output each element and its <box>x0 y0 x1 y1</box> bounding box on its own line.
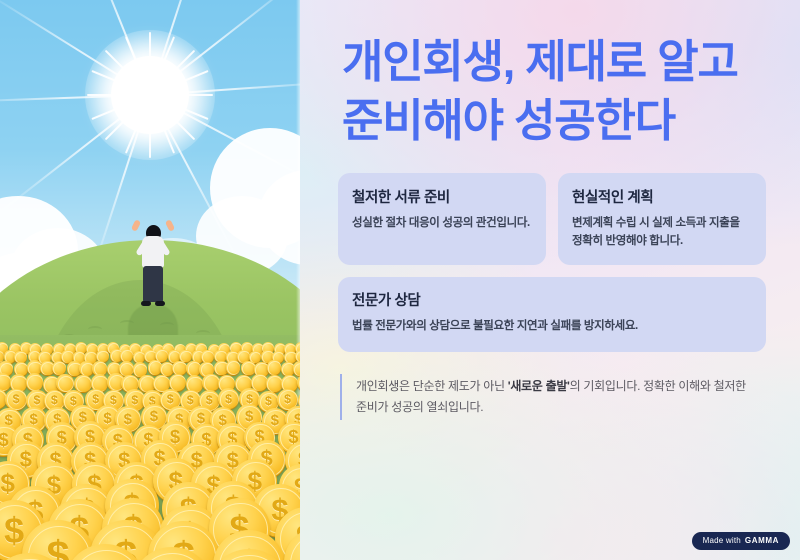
gold-coin <box>26 373 43 390</box>
card-document-prep[interactable]: 철저한 서류 준비 성실한 절차 대응이 성공의 관건입니다. <box>338 173 546 265</box>
person-torso <box>142 236 164 268</box>
slide-root: $$$$$$$$$$$$$$$$$$$$$$$$$$$$$$$$$$$$$$$$… <box>0 0 800 560</box>
card-expert-consult[interactable]: 전문가 상담 법률 전문가와의 상담으로 불필요한 지연과 실패를 방지하세요. <box>338 277 766 352</box>
card-title: 현실적인 계획 <box>572 186 752 207</box>
hero-illustration: $$$$$$$$$$$$$$$$$$$$$$$$$$$$$$$$$$$$$$$$… <box>0 0 300 560</box>
person-shoe-left <box>141 301 151 306</box>
gold-coin: $ <box>5 389 26 410</box>
gold-coin <box>52 361 67 376</box>
card-body: 변제계획 수립 시 실제 소득과 지출을 정확히 반영해야 합니다. <box>572 214 752 251</box>
quote-lead: 개인회생은 단순한 제도가 아닌 <box>356 379 508 393</box>
grass-tuft <box>88 326 102 333</box>
card-body: 법률 전문가와의 상담으로 불필요한 지연과 실패를 방지하세요. <box>352 317 752 336</box>
card-title: 전문가 상담 <box>352 289 752 310</box>
made-with-gamma-badge[interactable]: Made with GAMMA <box>692 532 790 550</box>
gold-coin <box>267 360 282 375</box>
content-panel: 개인회생, 제대로 알고 준비해야 성공한다 철저한 서류 준비 성실한 절차 … <box>300 0 800 560</box>
gold-coin: $ <box>218 388 239 409</box>
gold-coin <box>226 360 241 375</box>
gold-coin <box>172 361 187 376</box>
badge-prefix: Made with <box>703 536 741 545</box>
page-title: 개인회생, 제대로 알고 준비해야 성공한다 <box>342 32 757 151</box>
quote-emphasis: '새로운 출발' <box>508 379 570 393</box>
card-realistic-plan[interactable]: 현실적인 계획 변제계획 수립 시 실제 소득과 지출을 정확히 반영해야 합니… <box>558 173 766 265</box>
celebrating-person <box>133 215 173 307</box>
gold-coin <box>201 350 214 363</box>
badge-brand: GAMMA <box>745 536 779 545</box>
gold-coin <box>120 349 133 362</box>
sun-icon <box>111 56 189 134</box>
person-hand-left <box>131 219 141 232</box>
person-shoe-right <box>155 301 165 306</box>
gold-coin <box>74 375 91 392</box>
card-title: 철저한 서류 준비 <box>352 186 532 207</box>
gold-coin <box>202 374 219 391</box>
closing-quote-text: 개인회생은 단순한 제도가 아닌 '새로운 출발'의 기회입니다. 정확한 이해… <box>356 376 770 418</box>
gold-coin <box>56 374 73 391</box>
coin-field: $$$$$$$$$$$$$$$$$$$$$$$$$$$$$$$$$$$$$$$$… <box>0 335 300 560</box>
person-legs <box>143 266 163 302</box>
card-body: 성실한 절차 대응이 성공의 관건입니다. <box>352 214 532 233</box>
cards-row: 철저한 서류 준비 성실한 절차 대응이 성공의 관건입니다. 현실적인 계획 … <box>338 173 766 265</box>
closing-quote: 개인회생은 단순한 제도가 아닌 '새로운 출발'의 기회입니다. 정확한 이해… <box>340 374 770 420</box>
